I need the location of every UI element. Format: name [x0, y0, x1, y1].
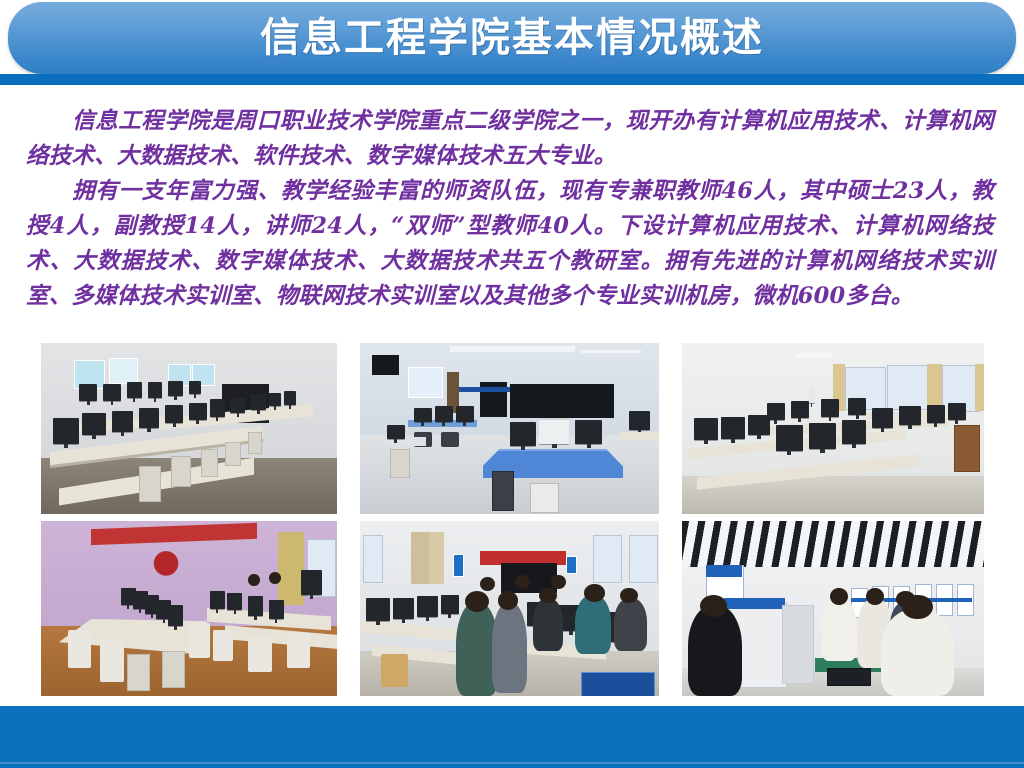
photo-gallery	[40, 342, 984, 697]
page-title: 信息工程学院基本情况概述	[260, 18, 764, 58]
photo-scene	[682, 521, 984, 696]
title-banner: 信息工程学院基本情况概述	[8, 2, 1016, 74]
photo-scene	[682, 343, 984, 514]
slide-header: 信息工程学院基本情况概述	[0, 0, 1024, 86]
photo-scene	[360, 343, 659, 514]
paragraph-programs: 信息工程学院是周口职业技术学院重点二级学院之一，现开办有计算机应用技术、计算机网…	[26, 104, 994, 174]
photo-purple-wall-lab	[40, 520, 338, 697]
photo-scene	[41, 521, 337, 696]
footer-divider-line	[0, 762, 1024, 764]
photo-scene	[360, 521, 659, 696]
header-accent-bar	[0, 74, 1024, 85]
photo-bright-classroom	[681, 342, 985, 515]
photo-network-lab-blue	[359, 342, 660, 515]
photo-iot-equipment-lab	[681, 520, 985, 697]
photo-computer-lab-rows	[40, 342, 338, 515]
slide-footer-bar	[0, 706, 1024, 768]
photo-students-at-computers	[359, 520, 660, 697]
paragraph-faculty: 拥有一支年富力强、教学经验丰富的师资队伍，现有专兼职教师46人，其中硕士23人，…	[26, 174, 994, 314]
photo-scene	[41, 343, 337, 514]
slide-body: 信息工程学院是周口职业技术学院重点二级学院之一，现开办有计算机应用技术、计算机网…	[0, 104, 1024, 314]
